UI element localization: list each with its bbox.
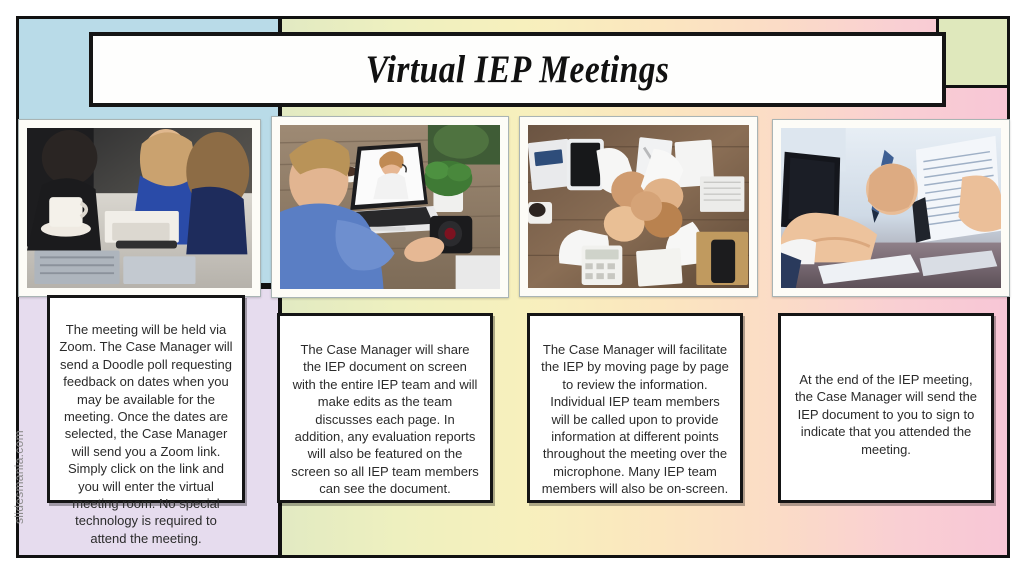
meeting-around-table-photo: [27, 128, 252, 288]
image-card-1: [18, 119, 261, 297]
description-text-4: At the end of the IEP meeting, the Case …: [793, 371, 979, 458]
signing-documents-photo-art: [781, 128, 1001, 288]
slide-canvas: Virtual IEP Meetings: [0, 0, 1024, 576]
meeting-around-table-photo-art: [27, 128, 252, 288]
description-box-4: At the end of the IEP meeting, the Case …: [778, 313, 994, 503]
image-card-3: [519, 116, 758, 297]
title-box: Virtual IEP Meetings: [89, 32, 946, 107]
background-block-green-corner: [936, 16, 1010, 88]
description-text-3: The Case Manager will facilitate the IEP…: [540, 341, 730, 498]
team-fists-together-photo-art: [528, 125, 749, 288]
signing-documents-photo: [781, 128, 1001, 288]
image-card-4: [772, 119, 1010, 297]
video-call-laptop-photo: [280, 125, 500, 289]
description-text-2: The Case Manager will share the IEP docu…: [290, 341, 480, 498]
page-title: Virtual IEP Meetings: [366, 47, 670, 92]
team-fists-together-photo: [528, 125, 749, 288]
description-box-2: The Case Manager will share the IEP docu…: [277, 313, 493, 503]
description-text-1: The meeting will be held via Zoom. The C…: [58, 321, 234, 547]
video-call-laptop-photo-art: [280, 125, 500, 289]
description-box-3: The Case Manager will facilitate the IEP…: [527, 313, 743, 503]
image-card-2: [271, 116, 509, 298]
slidesmania-watermark: slidesmania.com: [12, 414, 26, 524]
description-box-1: The meeting will be held via Zoom. The C…: [47, 295, 245, 503]
